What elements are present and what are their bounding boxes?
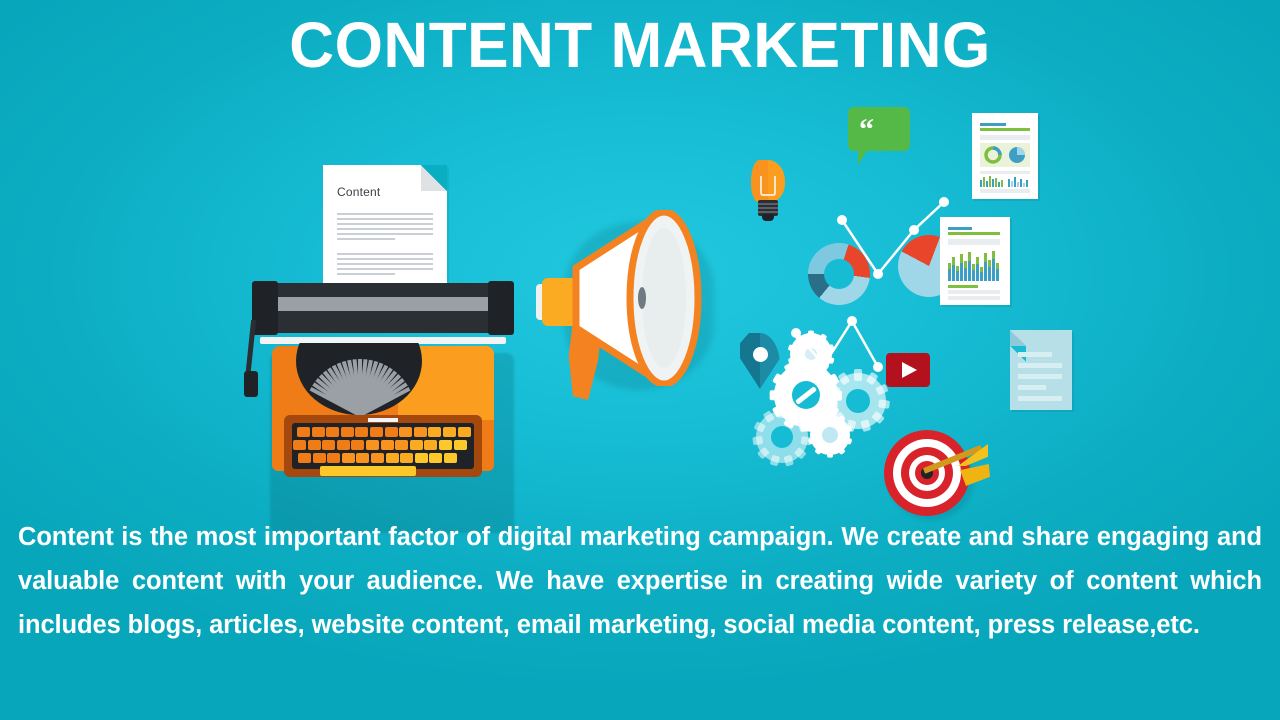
carriage-lever-knob <box>244 371 258 397</box>
body-paragraph: Content is the most important factor of … <box>18 515 1262 647</box>
typewriter-key[interactable] <box>410 440 423 450</box>
gear-icon <box>756 411 808 463</box>
paper-heading: Content <box>337 185 380 199</box>
typewriter-key[interactable] <box>444 453 457 463</box>
paper-text-lines <box>337 213 433 278</box>
typewriter-key[interactable] <box>297 427 310 437</box>
mini-bar-chart-left <box>980 175 1004 187</box>
typewriter-key[interactable] <box>386 453 399 463</box>
typewriter-slot <box>368 418 398 422</box>
line-chart-icon-secondary <box>788 293 884 375</box>
quote-glyph: “ <box>859 113 873 147</box>
paper-fold-icon <box>421 165 447 191</box>
typewriter-key[interactable] <box>458 427 471 437</box>
typewriter-key[interactable] <box>395 440 408 450</box>
typewriter-key[interactable] <box>454 440 467 450</box>
typewriter-key[interactable] <box>337 440 350 450</box>
typewriter-key[interactable] <box>385 427 398 437</box>
typewriter-key[interactable] <box>342 453 355 463</box>
typewriter-key[interactable] <box>355 427 368 437</box>
typewriter-key[interactable] <box>322 440 335 450</box>
gear-icon <box>810 415 850 455</box>
megaphone-cone-icon <box>568 210 716 386</box>
typewriter-key[interactable] <box>313 453 326 463</box>
typewriter-typebar-fan <box>296 343 422 415</box>
page-title: CONTENT MARKETING <box>19 12 1261 79</box>
play-button-icon[interactable] <box>886 353 930 387</box>
play-triangle-icon <box>902 362 917 378</box>
typewriter-key[interactable] <box>415 453 428 463</box>
typewriter-key[interactable] <box>293 440 306 450</box>
typewriter-key[interactable] <box>370 427 383 437</box>
typewriter-key[interactable] <box>439 440 452 450</box>
typewriter-key-panel <box>284 415 482 477</box>
document-bar-chart <box>948 249 1002 281</box>
lightbulb-icon <box>748 160 788 222</box>
typewriter-key[interactable] <box>312 427 325 437</box>
mini-donut-chart <box>984 146 1002 164</box>
typewriter-roller <box>276 289 490 319</box>
typewriter-key[interactable] <box>429 453 442 463</box>
slide-canvas: CONTENT MARKETING Content <box>0 0 1280 720</box>
document-icon <box>1010 330 1072 410</box>
typewriter-key[interactable] <box>400 453 413 463</box>
typewriter-keybed <box>292 423 474 469</box>
typewriter-key[interactable] <box>327 453 340 463</box>
carriage-knob-right <box>488 281 514 335</box>
typewriter-key[interactable] <box>428 427 441 437</box>
typewriter-key[interactable] <box>356 453 369 463</box>
megaphone-illustration <box>540 200 730 410</box>
illustration: Content <box>0 95 1280 495</box>
report-document-icon-2 <box>940 217 1010 305</box>
typewriter-key[interactable] <box>414 427 427 437</box>
report-document-icon <box>972 113 1038 199</box>
typewriter-key[interactable] <box>341 427 354 437</box>
carriage-knob-left <box>252 281 278 335</box>
line-chart-icon <box>832 190 952 290</box>
typewriter-key[interactable] <box>351 440 364 450</box>
typewriter-key[interactable] <box>381 440 394 450</box>
typewriter-key[interactable] <box>308 440 321 450</box>
typewriter-key[interactable] <box>399 427 412 437</box>
typewriter-illustration: Content <box>248 165 518 470</box>
typewriter-key[interactable] <box>443 427 456 437</box>
typewriter-key[interactable] <box>424 440 437 450</box>
mini-bar-chart-right <box>1008 175 1030 187</box>
typewriter-key[interactable] <box>366 440 379 450</box>
speech-bubble-icon: “ <box>848 107 910 165</box>
typewriter-spacebar[interactable] <box>320 466 416 476</box>
target-icon <box>884 430 970 516</box>
typewriter-key[interactable] <box>371 453 384 463</box>
typewriter-key[interactable] <box>298 453 311 463</box>
typewriter-key[interactable] <box>326 427 339 437</box>
mini-pie-chart <box>1008 146 1026 164</box>
